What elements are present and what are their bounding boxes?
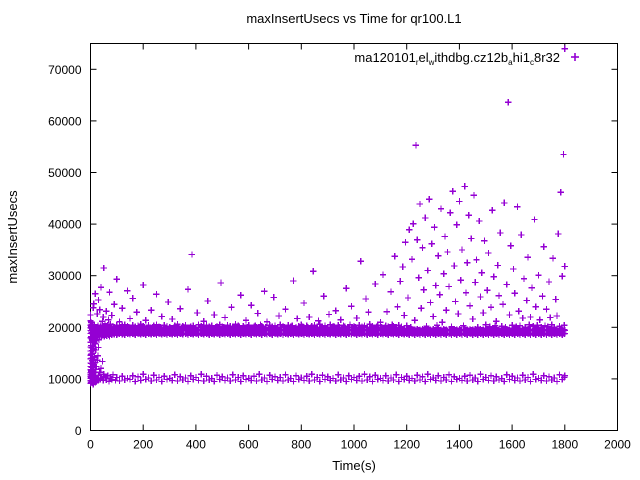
legend-label: ma120101relwithdbg.cz12bahi1c8r32 [354, 50, 560, 67]
x-tick-label: 200 [133, 438, 153, 452]
y-tick-label: 50000 [48, 166, 82, 180]
x-tick-label: 1600 [499, 438, 526, 452]
y-tick-label: 40000 [48, 218, 82, 232]
scatter-plot: 0100002000030000400005000060000700000200… [0, 0, 640, 480]
x-tick-label: 600 [239, 438, 259, 452]
data-points [87, 46, 568, 388]
y-tick-label: 30000 [48, 269, 82, 283]
y-tick-label: 0 [75, 424, 82, 438]
x-axis-label: Time(s) [332, 458, 376, 473]
x-tick-label: 2000 [604, 438, 631, 452]
x-tick-label: 800 [291, 438, 311, 452]
x-tick-label: 1800 [551, 438, 578, 452]
x-tick-label: 1400 [446, 438, 473, 452]
chart-canvas: 0100002000030000400005000060000700000200… [0, 0, 640, 480]
chart-title: maxInsertUsecs vs Time for qr100.L1 [246, 11, 461, 26]
y-tick-label: 60000 [48, 114, 82, 128]
x-tick-label: 1200 [393, 438, 420, 452]
plot-border [91, 44, 618, 431]
y-tick-label: 20000 [48, 321, 82, 335]
y-axis-label: maxInsertUsecs [5, 190, 20, 284]
y-tick-label: 70000 [48, 63, 82, 77]
y-tick-label: 10000 [48, 372, 82, 386]
x-tick-label: 1000 [341, 438, 368, 452]
legend-marker [571, 53, 579, 61]
x-tick-label: 400 [186, 438, 206, 452]
x-tick-label: 0 [87, 438, 94, 452]
point-marker-set [87, 46, 568, 388]
